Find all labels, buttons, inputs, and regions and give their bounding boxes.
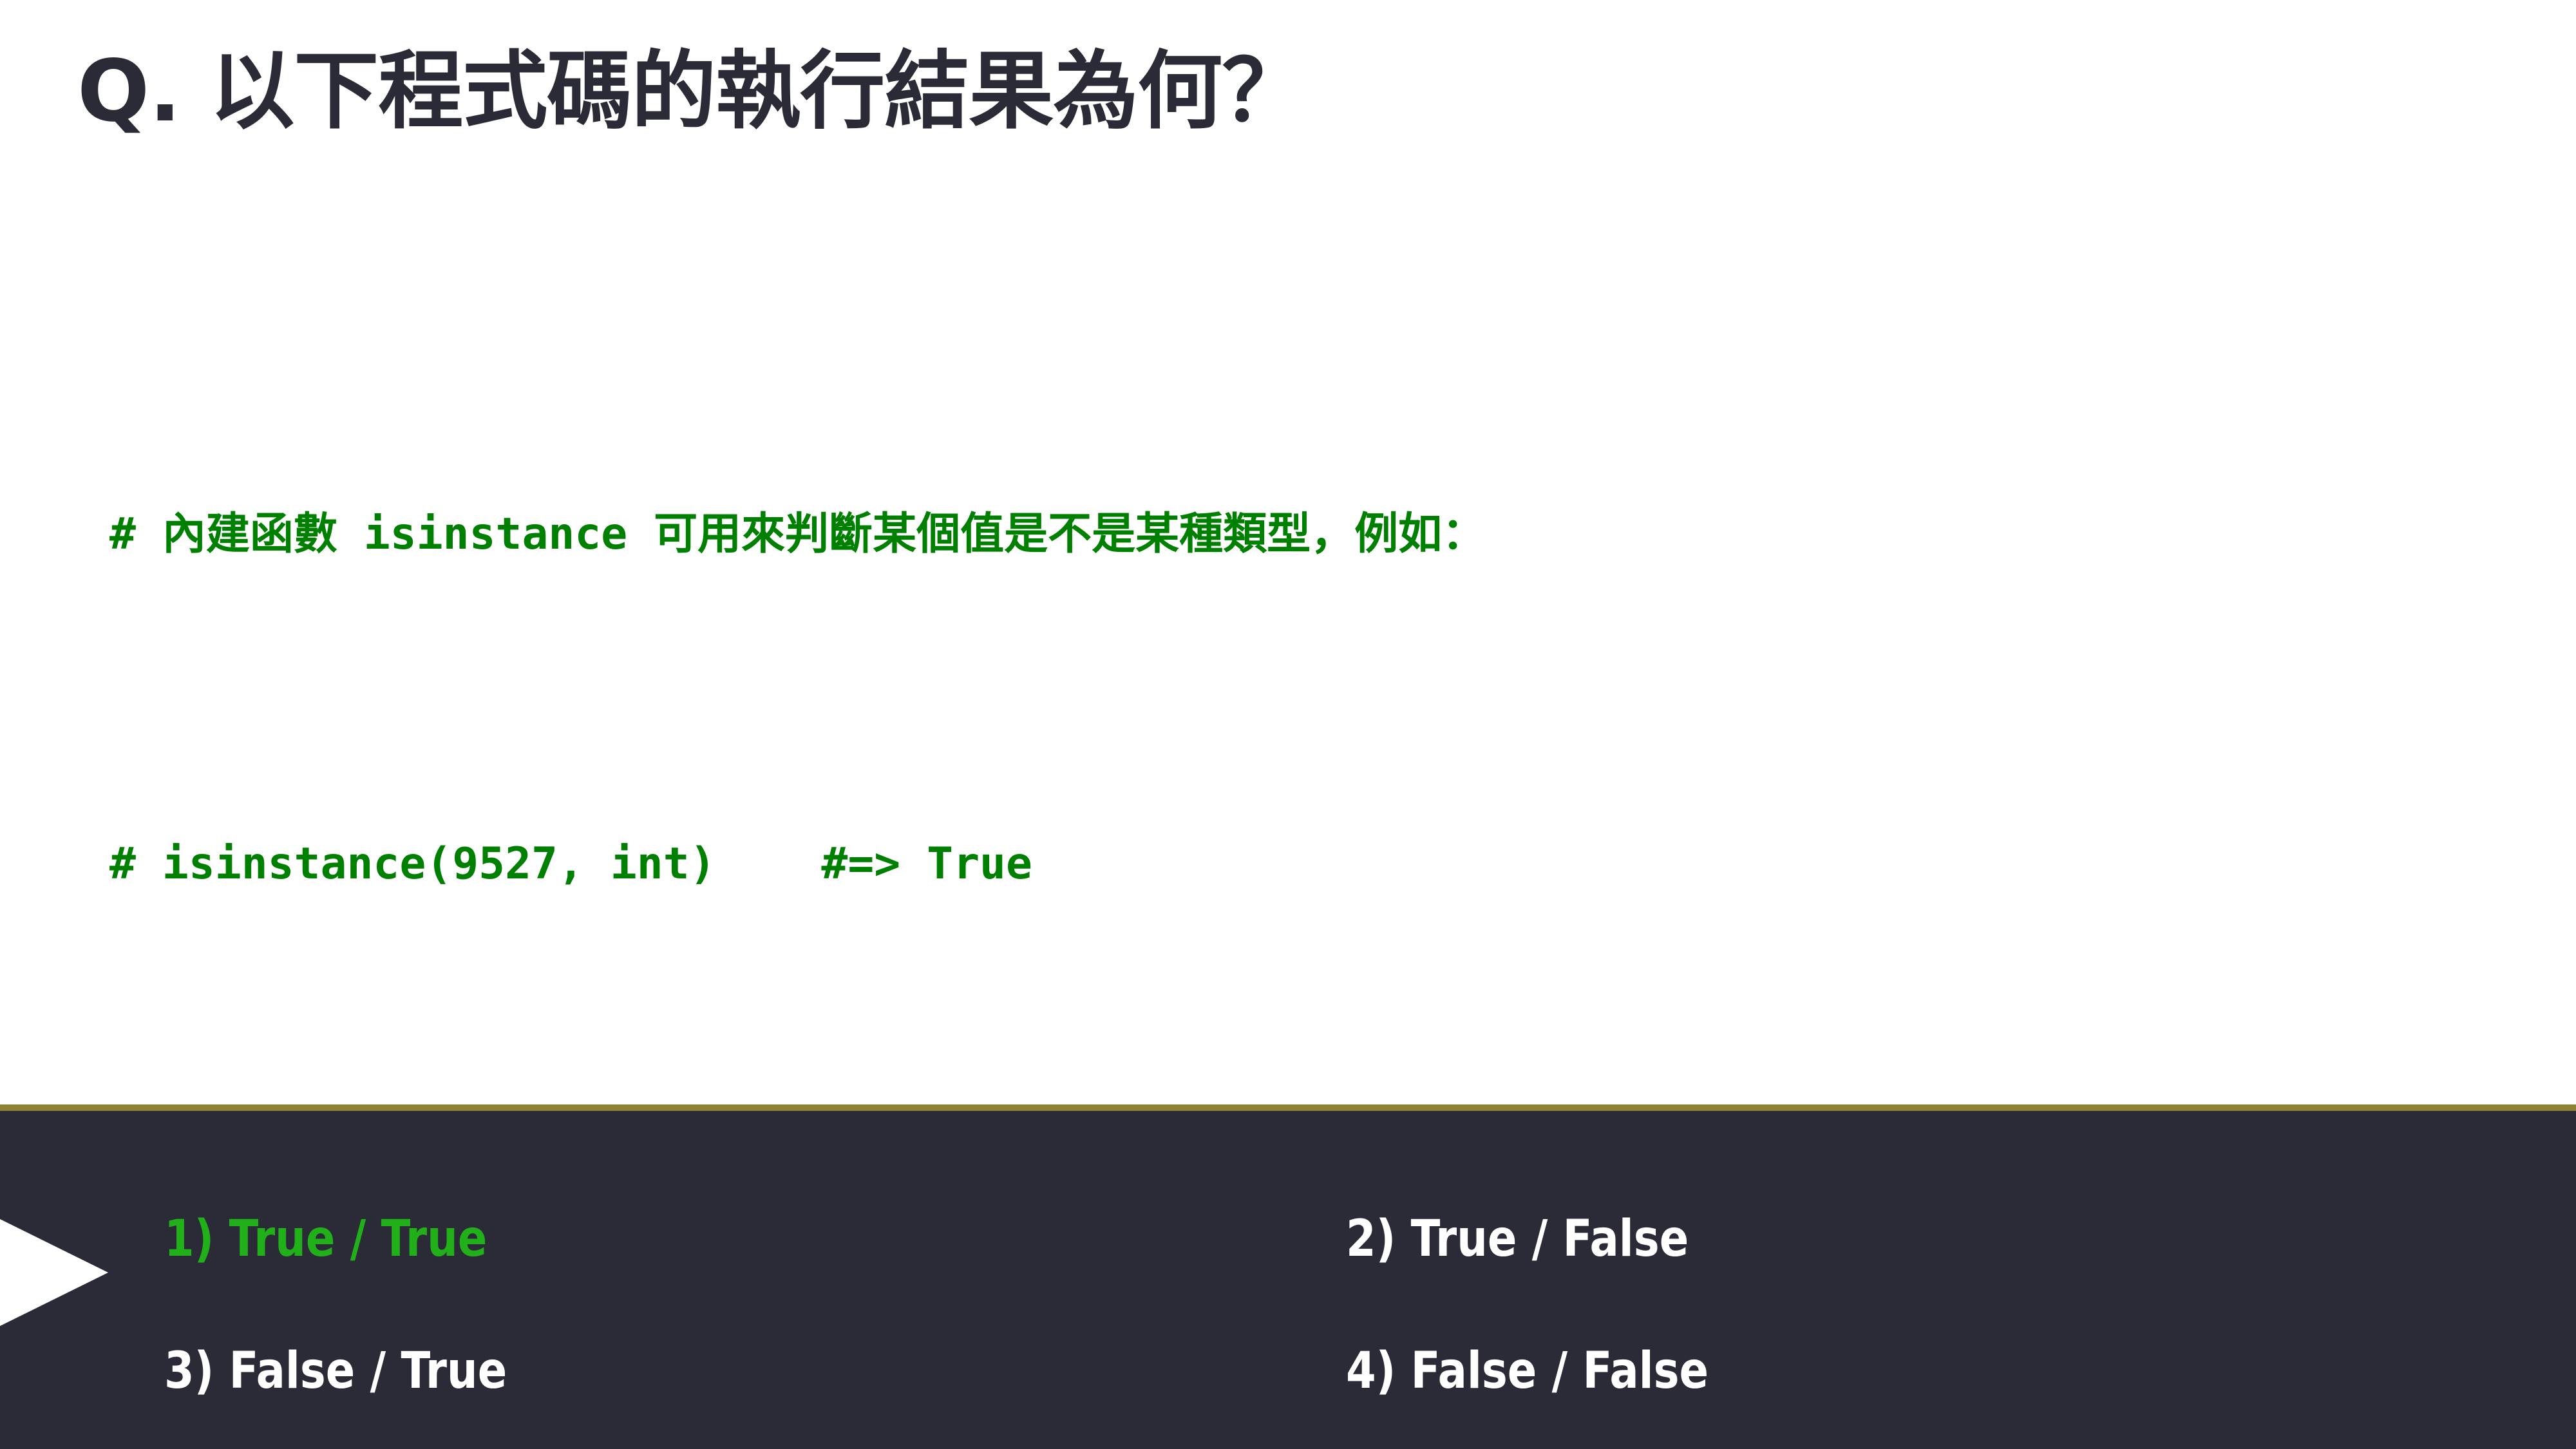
- answer-option-1[interactable]: 1) True / True: [164, 1214, 487, 1264]
- comment-hash-1: #: [109, 509, 162, 560]
- answer-option-4[interactable]: 4) False / False: [1346, 1346, 1709, 1396]
- answer-bar-divider: [0, 1104, 2576, 1111]
- answer-option-2[interactable]: 2) True / False: [1346, 1214, 1689, 1264]
- quiz-slide: Q. 以下程式碼的執行結果為何？ # 內建函數 isinstance 可用來判斷…: [0, 0, 2576, 1449]
- code-comment-line-2: # isinstance(9527, int) #=> True: [109, 823, 1486, 905]
- page-title: Q. 以下程式碼的執行結果為何？: [77, 39, 1306, 145]
- answer-options-grid: 1) True / True 2) True / False 3) False …: [0, 1111, 2576, 1449]
- comment-text-2: isinstance(9527, int) #=> True: [162, 838, 1032, 889]
- answer-option-3[interactable]: 3) False / True: [164, 1346, 507, 1396]
- comment-text-1: 內建函數 isinstance 可用來判斷某個值是不是某種類型，例如：: [162, 509, 1486, 560]
- code-comment-line-1: # 內建函數 isinstance 可用來判斷某個值是不是某種類型，例如：: [109, 493, 1486, 576]
- comment-hash-2: #: [109, 838, 162, 889]
